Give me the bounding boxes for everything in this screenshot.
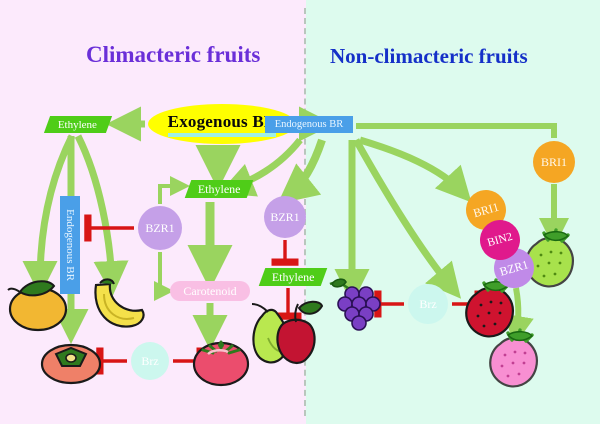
- node-carotenoid[interactable]: Carotenoid: [170, 281, 250, 301]
- node-brz-right[interactable]: Brz: [408, 284, 448, 324]
- node-ethylene-left-label: Ethylene: [58, 119, 97, 131]
- diagram-canvas: Climacteric fruits Non-climacteric fruit…: [0, 0, 600, 424]
- node-brz-right-label: Brz: [419, 297, 436, 312]
- node-brz-left-label: Brz: [141, 354, 158, 369]
- node-endogenous-br-horizontal-label: Endogenous BR: [275, 119, 344, 130]
- node-ethylene-lower-label: Ethylene: [272, 270, 315, 285]
- node-ethylene-left[interactable]: Ethylene: [44, 116, 112, 133]
- node-carotenoid-label: Carotenoid: [183, 284, 236, 299]
- node-bin2-label: BIN2: [486, 231, 514, 250]
- node-bzr1-left-label: BZR1: [145, 221, 174, 236]
- node-bzr1-left[interactable]: BZR1: [138, 206, 182, 250]
- node-bri1-right-label: BRI1: [541, 155, 567, 170]
- node-ethylene-mid[interactable]: Ethylene: [185, 180, 254, 198]
- node-endogenous-br-horizontal[interactable]: Endogenous BR: [265, 116, 353, 133]
- node-ethylene-lower[interactable]: Ethylene: [259, 268, 328, 286]
- header-non-climacteric: Non-climacteric fruits: [330, 44, 528, 69]
- node-endogenous-br-vertical-label: Endogenous BR: [64, 209, 76, 281]
- node-bzr1-mid-label: BZR1: [270, 210, 299, 225]
- node-bri1-right[interactable]: BRI1: [533, 141, 575, 183]
- node-ethylene-mid-label: Ethylene: [198, 182, 241, 197]
- header-climacteric: Climacteric fruits: [86, 42, 260, 68]
- node-bri1-left-label: BRI1: [471, 199, 500, 221]
- node-endogenous-br-vertical[interactable]: Endogenous BR: [60, 196, 80, 294]
- node-bzr1-right-label: BZR1: [498, 257, 530, 280]
- node-bzr1-mid[interactable]: BZR1: [264, 196, 306, 238]
- node-brz-left[interactable]: Brz: [131, 342, 169, 380]
- node-exogenous-br-label: Exogenous BR: [168, 112, 277, 137]
